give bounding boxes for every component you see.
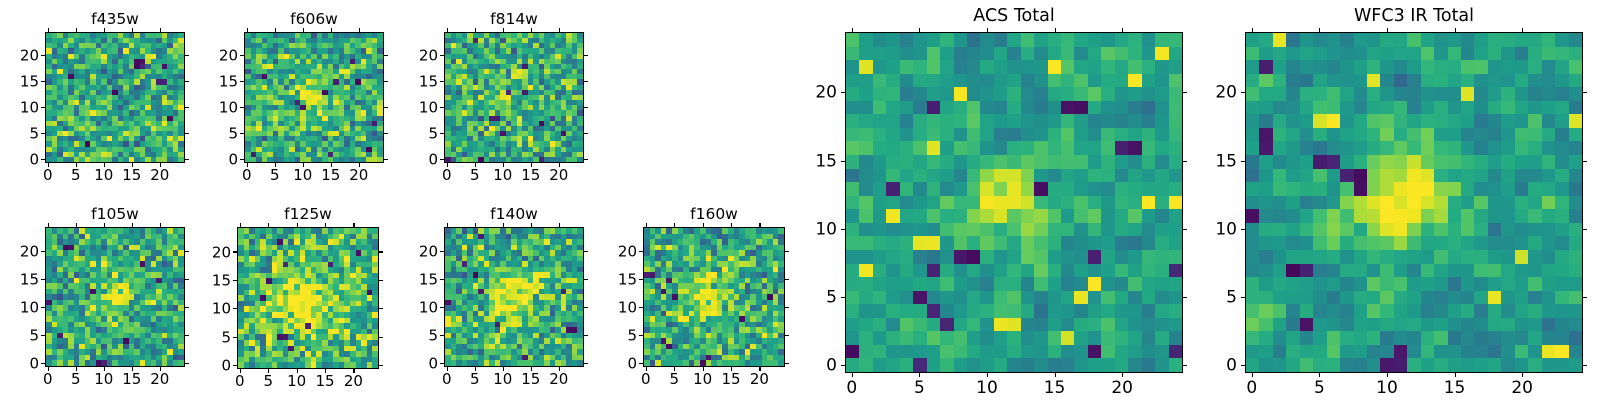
ytick-f105w-5 <box>41 335 45 336</box>
yticklabel-acs-total-5: 5 <box>826 289 837 306</box>
ytick-right-f814w-15 <box>584 81 588 82</box>
ytick-f125w-20 <box>233 251 237 252</box>
xtick-acs-total-15 <box>1055 373 1056 377</box>
axes-wfc3-ir-total <box>1245 32 1583 373</box>
ytick-f125w-10 <box>233 308 237 309</box>
xtick-top-f814w-20 <box>559 28 560 32</box>
xticklabel-f105w-20: 20 <box>150 372 169 387</box>
yticklabel-f125w-20: 20 <box>212 245 231 260</box>
xticklabel-f814w-0: 0 <box>442 168 452 183</box>
yticklabel-f814w-20: 20 <box>419 48 438 63</box>
yticklabel-f105w-15: 15 <box>20 273 39 288</box>
ytick-f125w-0 <box>233 365 237 366</box>
yticklabel-f140w-0: 0 <box>428 357 438 372</box>
ytick-right-f125w-15 <box>379 280 383 281</box>
xtick-top-f606w-15 <box>331 28 332 32</box>
ytick-f814w-5 <box>440 133 444 134</box>
ytick-f125w-15 <box>233 280 237 281</box>
ytick-right-acs-total-15 <box>1183 161 1187 162</box>
yticklabel-f160w-10: 10 <box>618 301 637 316</box>
panel-f140w: f140w0055101015152020 <box>444 227 584 367</box>
xticklabel-f814w-5: 5 <box>470 168 480 183</box>
ytick-right-f160w-10 <box>785 307 789 308</box>
ytick-right-acs-total-5 <box>1183 297 1187 298</box>
xticklabel-f814w-20: 20 <box>549 168 568 183</box>
xticklabel-f160w-10: 10 <box>693 372 712 387</box>
xtick-top-f606w-20 <box>359 28 360 32</box>
ytick-f140w-0 <box>440 363 444 364</box>
yticklabel-acs-total-20: 20 <box>815 85 837 102</box>
yticklabel-wfc3-ir-total-20: 20 <box>1215 85 1237 102</box>
xtick-top-wfc3-ir-total-15 <box>1455 28 1456 32</box>
heatmap-f160w <box>644 228 784 366</box>
ytick-right-f160w-0 <box>785 363 789 364</box>
heatmap-f105w <box>46 228 184 366</box>
yticklabel-f105w-5: 5 <box>29 329 39 344</box>
ytick-f814w-10 <box>440 107 444 108</box>
ytick-acs-total-0 <box>841 365 845 366</box>
xticklabel-f125w-0: 0 <box>235 374 245 389</box>
xtick-top-wfc3-ir-total-10 <box>1387 28 1388 32</box>
xtick-top-f125w-20 <box>353 223 354 227</box>
xtick-acs-total-20 <box>1122 373 1123 377</box>
ytick-right-f814w-20 <box>584 55 588 56</box>
yticklabel-f105w-20: 20 <box>20 245 39 260</box>
yticklabel-f606w-20: 20 <box>219 48 238 63</box>
panel-title-acs-total: ACS Total <box>973 8 1054 26</box>
xticklabel-f814w-10: 10 <box>493 168 512 183</box>
ytick-right-f125w-5 <box>379 337 383 338</box>
ytick-right-f105w-10 <box>185 307 189 308</box>
xtick-top-f125w-15 <box>325 223 326 227</box>
ytick-right-f105w-20 <box>185 251 189 252</box>
xtick-top-f140w-0 <box>447 223 448 227</box>
yticklabel-acs-total-15: 15 <box>815 153 837 170</box>
panel-title-f814w: f814w <box>490 12 538 28</box>
yticklabel-f435w-20: 20 <box>20 48 39 63</box>
heatmap-f814w <box>445 33 583 162</box>
ytick-f160w-5 <box>639 335 643 336</box>
ytick-f160w-20 <box>639 251 643 252</box>
panel-title-f606w: f606w <box>290 12 338 28</box>
xticklabel-f140w-5: 5 <box>470 372 480 387</box>
xticklabel-acs-total-0: 0 <box>846 380 857 397</box>
ytick-f606w-0 <box>240 159 244 160</box>
ytick-f435w-5 <box>41 133 45 134</box>
xticklabel-f606w-15: 15 <box>321 168 340 183</box>
yticklabel-wfc3-ir-total-10: 10 <box>1215 221 1237 238</box>
yticklabel-wfc3-ir-total-0: 0 <box>1226 358 1237 375</box>
xtick-top-f105w-10 <box>104 223 105 227</box>
yticklabel-f105w-0: 0 <box>29 357 39 372</box>
ytick-right-acs-total-0 <box>1183 365 1187 366</box>
xticklabel-f140w-20: 20 <box>549 372 568 387</box>
xtick-acs-total-0 <box>852 373 853 377</box>
ytick-right-wfc3-ir-total-15 <box>1583 161 1587 162</box>
panel-acs-total: ACS Total0055101015152020 <box>845 32 1183 373</box>
xtick-top-f435w-15 <box>132 28 133 32</box>
axes-acs-total <box>845 32 1183 373</box>
yticklabel-acs-total-10: 10 <box>815 221 837 238</box>
xticklabel-f435w-15: 15 <box>122 168 141 183</box>
xticklabel-f160w-15: 15 <box>721 372 740 387</box>
ytick-f435w-15 <box>41 81 45 82</box>
xticklabel-f435w-10: 10 <box>94 168 113 183</box>
panel-f105w: f105w0055101015152020 <box>45 227 185 367</box>
xticklabel-f606w-0: 0 <box>242 168 252 183</box>
ytick-right-f160w-15 <box>785 279 789 280</box>
xtick-top-f814w-10 <box>503 28 504 32</box>
xtick-top-wfc3-ir-total-5 <box>1319 28 1320 32</box>
xtick-top-f160w-20 <box>759 223 760 227</box>
ytick-right-wfc3-ir-total-10 <box>1583 229 1587 230</box>
panel-f435w: f435w0055101015152020 <box>45 32 185 163</box>
yticklabel-f435w-0: 0 <box>29 153 39 168</box>
panel-wfc3-ir-total: WFC3 IR Total0055101015152020 <box>1245 32 1583 373</box>
ytick-f105w-20 <box>41 251 45 252</box>
ytick-right-f140w-15 <box>584 279 588 280</box>
xtick-top-f140w-5 <box>475 223 476 227</box>
panel-f160w: f160w0055101015152020 <box>643 227 785 367</box>
xticklabel-wfc3-ir-total-0: 0 <box>1246 380 1257 397</box>
ytick-f606w-20 <box>240 55 244 56</box>
xtick-top-f814w-0 <box>447 28 448 32</box>
yticklabel-acs-total-0: 0 <box>826 358 837 375</box>
xtick-top-f435w-5 <box>76 28 77 32</box>
ytick-f140w-15 <box>440 279 444 280</box>
xtick-wfc3-ir-total-15 <box>1455 373 1456 377</box>
ytick-right-f606w-5 <box>384 133 388 134</box>
xticklabel-f105w-5: 5 <box>71 372 81 387</box>
ytick-right-f435w-15 <box>185 81 189 82</box>
xtick-acs-total-5 <box>919 373 920 377</box>
ytick-right-wfc3-ir-total-5 <box>1583 297 1587 298</box>
xticklabel-f160w-20: 20 <box>750 372 769 387</box>
panel-f606w: f606w0055101015152020 <box>244 32 384 163</box>
axes-f160w <box>643 227 785 367</box>
xticklabel-f606w-10: 10 <box>293 168 312 183</box>
ytick-wfc3-ir-total-20 <box>1241 92 1245 93</box>
xticklabel-acs-total-15: 15 <box>1044 380 1066 397</box>
xticklabel-f105w-15: 15 <box>122 372 141 387</box>
xtick-wfc3-ir-total-10 <box>1387 373 1388 377</box>
ytick-f105w-10 <box>41 307 45 308</box>
xticklabel-f105w-10: 10 <box>94 372 113 387</box>
heatmap-wfc3-ir-total <box>1246 33 1582 372</box>
heatmap-f125w <box>238 228 378 368</box>
xtick-top-f606w-5 <box>275 28 276 32</box>
yticklabel-f125w-0: 0 <box>221 359 231 374</box>
xtick-top-f140w-20 <box>559 223 560 227</box>
ytick-f606w-5 <box>240 133 244 134</box>
yticklabel-f160w-5: 5 <box>627 329 637 344</box>
xtick-top-f125w-0 <box>240 223 241 227</box>
yticklabel-f606w-10: 10 <box>219 100 238 115</box>
xtick-top-wfc3-ir-total-0 <box>1252 28 1253 32</box>
ytick-acs-total-20 <box>841 92 845 93</box>
panel-f125w: f125w0055101015152020 <box>237 227 379 369</box>
panel-title-f435w: f435w <box>91 12 139 28</box>
ytick-right-f606w-20 <box>384 55 388 56</box>
panel-f814w: f814w0055101015152020 <box>444 32 584 163</box>
ytick-acs-total-15 <box>841 161 845 162</box>
xtick-top-f606w-0 <box>247 28 248 32</box>
heatmap-f606w <box>245 33 383 162</box>
xticklabel-f435w-5: 5 <box>71 168 81 183</box>
xtick-top-f140w-10 <box>503 223 504 227</box>
xticklabel-f814w-15: 15 <box>521 168 540 183</box>
ytick-right-f160w-5 <box>785 335 789 336</box>
xtick-top-f160w-15 <box>731 223 732 227</box>
xtick-top-f606w-10 <box>303 28 304 32</box>
yticklabel-f814w-15: 15 <box>419 74 438 89</box>
yticklabel-f140w-20: 20 <box>419 245 438 260</box>
xticklabel-wfc3-ir-total-20: 20 <box>1511 380 1533 397</box>
yticklabel-f435w-5: 5 <box>29 127 39 142</box>
ytick-right-f105w-5 <box>185 335 189 336</box>
figure-canvas: f435w0055101015152020f606w00551010151520… <box>0 0 1600 400</box>
yticklabel-wfc3-ir-total-5: 5 <box>1226 289 1237 306</box>
ytick-f140w-10 <box>440 307 444 308</box>
xtick-top-f105w-15 <box>132 223 133 227</box>
xticklabel-f606w-20: 20 <box>349 168 368 183</box>
ytick-right-f606w-0 <box>384 159 388 160</box>
xticklabel-acs-total-20: 20 <box>1111 380 1133 397</box>
ytick-right-f105w-0 <box>185 363 189 364</box>
ytick-right-f814w-10 <box>584 107 588 108</box>
xticklabel-f606w-5: 5 <box>270 168 280 183</box>
ytick-wfc3-ir-total-0 <box>1241 365 1245 366</box>
axes-f814w <box>444 32 584 163</box>
xtick-top-f814w-15 <box>531 28 532 32</box>
ytick-f606w-15 <box>240 81 244 82</box>
ytick-f814w-0 <box>440 159 444 160</box>
ytick-f160w-0 <box>639 363 643 364</box>
yticklabel-f140w-10: 10 <box>419 301 438 316</box>
ytick-right-f125w-20 <box>379 251 383 252</box>
xtick-top-acs-total-5 <box>919 28 920 32</box>
ytick-acs-total-10 <box>841 229 845 230</box>
yticklabel-wfc3-ir-total-15: 15 <box>1215 153 1237 170</box>
xtick-top-f814w-5 <box>475 28 476 32</box>
xticklabel-acs-total-5: 5 <box>914 380 925 397</box>
heatmap-acs-total <box>846 33 1182 372</box>
yticklabel-f814w-10: 10 <box>419 100 438 115</box>
ytick-right-f435w-20 <box>185 55 189 56</box>
panel-title-f105w: f105w <box>91 207 139 223</box>
ytick-right-f435w-5 <box>185 133 189 134</box>
ytick-right-f125w-0 <box>379 365 383 366</box>
ytick-right-acs-total-20 <box>1183 92 1187 93</box>
ytick-right-f140w-0 <box>584 363 588 364</box>
heatmap-f140w <box>445 228 583 366</box>
panel-title-f160w: f160w <box>690 207 738 223</box>
yticklabel-f814w-0: 0 <box>428 153 438 168</box>
xtick-top-wfc3-ir-total-20 <box>1522 28 1523 32</box>
axes-f435w <box>45 32 185 163</box>
ytick-right-f606w-10 <box>384 107 388 108</box>
xtick-top-f435w-0 <box>48 28 49 32</box>
xticklabel-f140w-0: 0 <box>442 372 452 387</box>
xtick-wfc3-ir-total-20 <box>1522 373 1523 377</box>
ytick-f105w-0 <box>41 363 45 364</box>
ytick-f160w-15 <box>639 279 643 280</box>
xtick-top-f105w-5 <box>76 223 77 227</box>
yticklabel-f606w-15: 15 <box>219 74 238 89</box>
ytick-right-f606w-15 <box>384 81 388 82</box>
yticklabel-f125w-15: 15 <box>212 273 231 288</box>
yticklabel-f140w-15: 15 <box>419 273 438 288</box>
xticklabel-wfc3-ir-total-5: 5 <box>1314 380 1325 397</box>
xtick-top-f160w-10 <box>703 223 704 227</box>
xtick-wfc3-ir-total-0 <box>1252 373 1253 377</box>
ytick-f435w-10 <box>41 107 45 108</box>
ytick-wfc3-ir-total-5 <box>1241 297 1245 298</box>
yticklabel-f606w-0: 0 <box>228 153 238 168</box>
panel-title-f140w: f140w <box>490 207 538 223</box>
yticklabel-f160w-20: 20 <box>618 245 637 260</box>
yticklabel-f160w-0: 0 <box>627 357 637 372</box>
xticklabel-f125w-10: 10 <box>287 374 306 389</box>
ytick-right-f105w-15 <box>185 279 189 280</box>
xticklabel-f435w-0: 0 <box>43 168 53 183</box>
yticklabel-f125w-10: 10 <box>212 302 231 317</box>
xticklabel-f125w-5: 5 <box>263 374 273 389</box>
xtick-top-f435w-20 <box>160 28 161 32</box>
ytick-right-f435w-0 <box>185 159 189 160</box>
xtick-acs-total-10 <box>987 373 988 377</box>
ytick-right-f814w-0 <box>584 159 588 160</box>
xtick-top-f160w-0 <box>646 223 647 227</box>
xtick-top-f125w-10 <box>297 223 298 227</box>
heatmap-f435w <box>46 33 184 162</box>
xticklabel-wfc3-ir-total-15: 15 <box>1444 380 1466 397</box>
yticklabel-f140w-5: 5 <box>428 329 438 344</box>
ytick-f435w-0 <box>41 159 45 160</box>
ytick-right-wfc3-ir-total-20 <box>1583 92 1587 93</box>
xticklabel-f140w-15: 15 <box>521 372 540 387</box>
xtick-top-acs-total-20 <box>1122 28 1123 32</box>
axes-f140w <box>444 227 584 367</box>
ytick-right-acs-total-10 <box>1183 229 1187 230</box>
ytick-acs-total-5 <box>841 297 845 298</box>
ytick-wfc3-ir-total-10 <box>1241 229 1245 230</box>
xticklabel-f105w-0: 0 <box>43 372 53 387</box>
xticklabel-f140w-10: 10 <box>493 372 512 387</box>
xticklabel-f435w-20: 20 <box>150 168 169 183</box>
ytick-f140w-20 <box>440 251 444 252</box>
xtick-wfc3-ir-total-5 <box>1319 373 1320 377</box>
ytick-f814w-20 <box>440 55 444 56</box>
ytick-f814w-15 <box>440 81 444 82</box>
xtick-top-f140w-15 <box>531 223 532 227</box>
ytick-f435w-20 <box>41 55 45 56</box>
ytick-right-wfc3-ir-total-0 <box>1583 365 1587 366</box>
panel-title-wfc3-ir-total: WFC3 IR Total <box>1354 8 1474 26</box>
ytick-f160w-10 <box>639 307 643 308</box>
xtick-top-f125w-5 <box>268 223 269 227</box>
xticklabel-wfc3-ir-total-10: 10 <box>1376 380 1398 397</box>
ytick-wfc3-ir-total-15 <box>1241 161 1245 162</box>
xticklabel-f125w-20: 20 <box>344 374 363 389</box>
ytick-right-f125w-10 <box>379 308 383 309</box>
yticklabel-f125w-5: 5 <box>221 330 231 345</box>
yticklabel-f435w-10: 10 <box>20 100 39 115</box>
xtick-top-f160w-5 <box>674 223 675 227</box>
axes-f125w <box>237 227 379 369</box>
ytick-right-f814w-5 <box>584 133 588 134</box>
xtick-top-f105w-0 <box>48 223 49 227</box>
xtick-top-acs-total-10 <box>987 28 988 32</box>
yticklabel-f160w-15: 15 <box>618 273 637 288</box>
axes-f105w <box>45 227 185 367</box>
ytick-f140w-5 <box>440 335 444 336</box>
yticklabel-f435w-15: 15 <box>20 74 39 89</box>
ytick-right-f140w-10 <box>584 307 588 308</box>
yticklabel-f606w-5: 5 <box>228 127 238 142</box>
xticklabel-f160w-5: 5 <box>669 372 679 387</box>
xticklabel-acs-total-10: 10 <box>976 380 998 397</box>
xticklabel-f125w-15: 15 <box>315 374 334 389</box>
axes-f606w <box>244 32 384 163</box>
yticklabel-f105w-10: 10 <box>20 301 39 316</box>
xticklabel-f160w-0: 0 <box>641 372 651 387</box>
ytick-f606w-10 <box>240 107 244 108</box>
xtick-top-acs-total-0 <box>852 28 853 32</box>
yticklabel-f814w-5: 5 <box>428 127 438 142</box>
xtick-top-f435w-10 <box>104 28 105 32</box>
ytick-right-f140w-5 <box>584 335 588 336</box>
xtick-top-acs-total-15 <box>1055 28 1056 32</box>
ytick-right-f160w-20 <box>785 251 789 252</box>
xtick-top-f105w-20 <box>160 223 161 227</box>
ytick-right-f140w-20 <box>584 251 588 252</box>
ytick-f125w-5 <box>233 337 237 338</box>
panel-title-f125w: f125w <box>284 207 332 223</box>
ytick-f105w-15 <box>41 279 45 280</box>
ytick-right-f435w-10 <box>185 107 189 108</box>
